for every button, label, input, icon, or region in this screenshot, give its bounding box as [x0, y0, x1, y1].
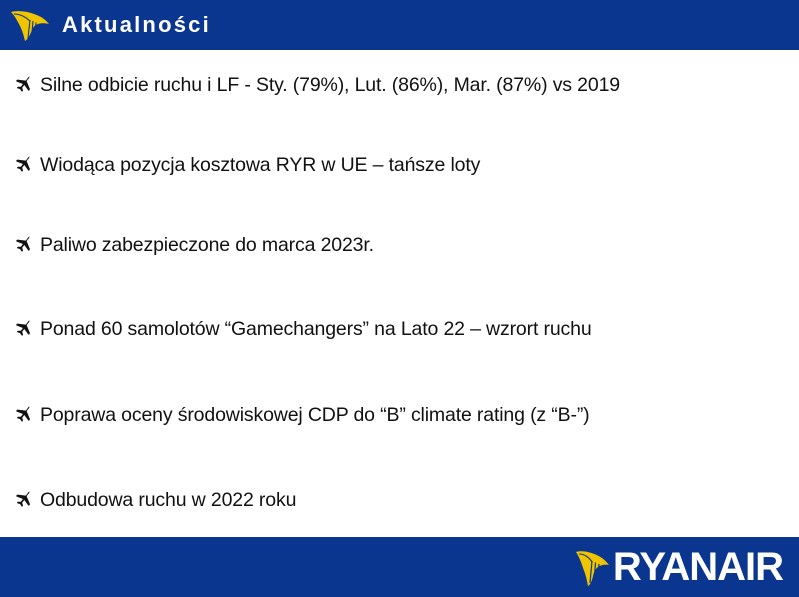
slide-footer-bar: RYANAIR	[0, 537, 799, 597]
ryanair-brand-lockup: RYANAIR	[573, 547, 783, 587]
list-item: Silne odbicie ruchu i LF - Sty. (79%), L…	[14, 72, 620, 96]
airplane-bullet-icon	[14, 235, 33, 254]
bullet-text: Ponad 60 samolotów “Gamechangers” na Lat…	[40, 318, 592, 340]
airplane-bullet-icon	[14, 490, 33, 509]
bullet-text: Paliwo zabezpieczone do marca 2023r.	[40, 234, 374, 256]
bullet-text: Odbudowa ruchu w 2022 roku	[40, 489, 296, 511]
list-item: Ponad 60 samolotów “Gamechangers” na Lat…	[14, 316, 592, 340]
bullet-text: Poprawa oceny środowiskowej CDP do “B” c…	[40, 404, 590, 426]
ryanair-wordmark: RYANAIR	[613, 547, 783, 587]
bullet-text: Silne odbicie ruchu i LF - Sty. (79%), L…	[40, 74, 620, 96]
list-item: Paliwo zabezpieczone do marca 2023r.	[14, 232, 374, 256]
airplane-bullet-icon	[14, 405, 33, 424]
airplane-bullet-icon	[14, 75, 33, 94]
bullet-list: Silne odbicie ruchu i LF - Sty. (79%), L…	[0, 50, 799, 537]
airplane-bullet-icon	[14, 155, 33, 174]
list-item: Poprawa oceny środowiskowej CDP do “B” c…	[14, 402, 590, 426]
airplane-bullet-icon	[14, 319, 33, 338]
list-item: Wiodąca pozycja kosztowa RYR w UE – tańs…	[14, 152, 480, 176]
bullet-text: Wiodąca pozycja kosztowa RYR w UE – tańs…	[40, 154, 480, 176]
page-title: Aktualności	[62, 14, 211, 36]
slide-header-bar: Aktualności	[0, 0, 799, 50]
list-item: Odbudowa ruchu w 2022 roku	[14, 487, 296, 511]
ryanair-harp-icon	[573, 547, 611, 587]
ryanair-harp-icon	[8, 8, 52, 42]
